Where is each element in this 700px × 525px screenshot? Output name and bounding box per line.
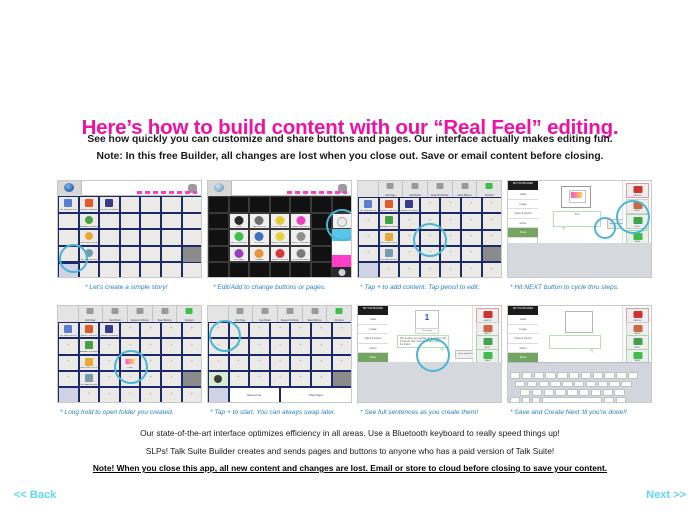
plus-icon: + — [429, 267, 432, 272]
grid-cell-empty[interactable]: + — [420, 262, 441, 278]
editor-sidebar-item-image[interactable]: Image — [508, 200, 538, 210]
plus-icon: + — [149, 360, 152, 365]
highlight-circle — [616, 200, 650, 234]
toolbar-button-new-button[interactable]: New Button — [403, 181, 428, 197]
keyboard-key[interactable] — [544, 389, 554, 396]
keyboard-key[interactable] — [598, 381, 608, 388]
home-cell[interactable] — [208, 181, 232, 196]
plus-icon: + — [190, 360, 193, 365]
grid-cell-empty[interactable]: + — [58, 371, 79, 387]
side-button-home[interactable] — [332, 267, 352, 278]
highlight-circle — [59, 244, 88, 273]
grid-cell-with-icon[interactable]: MY FAVORITES — [358, 197, 379, 213]
keyboard-key[interactable] — [579, 389, 589, 396]
grid-cell-empty[interactable]: + — [311, 338, 332, 354]
sentence-strip — [137, 191, 197, 194]
plus-icon: + — [258, 343, 261, 348]
screenshot-step-3[interactable]: Edit PageNew ButtonDelete/Cut ButtonSwap… — [357, 180, 502, 278]
highlight-circle — [209, 320, 241, 352]
grid-cell-empty[interactable]: + — [140, 387, 161, 403]
colored-button[interactable]: SILLY SOUNDS — [229, 229, 250, 246]
tool-icon — [87, 308, 94, 314]
keyboard-key[interactable] — [557, 372, 567, 379]
plus-icon: + — [367, 235, 370, 240]
footer-line-2: SLPs! Talk Suite Builder creates and sen… — [0, 446, 700, 456]
grid-cell-empty[interactable]: + — [482, 197, 502, 213]
plus-icon: + — [67, 360, 70, 365]
grid-cell-empty[interactable]: + — [140, 322, 161, 338]
next-link[interactable]: Next >> — [646, 489, 686, 501]
x-glyph — [633, 186, 642, 193]
grid-cell-empty[interactable]: + — [379, 262, 400, 278]
keyboard-key[interactable] — [522, 397, 530, 403]
plus-icon: + — [149, 376, 152, 381]
highlight-circle — [326, 209, 352, 241]
plus-icon: + — [320, 343, 323, 348]
plus-icon: + — [170, 360, 173, 365]
grid-cell-empty[interactable]: + — [290, 338, 311, 354]
plus-icon: + — [490, 267, 493, 272]
grid-cell-gray[interactable] — [182, 246, 202, 263]
grid-cell[interactable] — [120, 262, 141, 278]
grid-cell[interactable] — [99, 229, 120, 246]
grid-cell[interactable] — [161, 196, 182, 213]
grid-cell[interactable] — [290, 262, 311, 278]
grid-cell-gray[interactable] — [332, 371, 352, 387]
avatar-button[interactable] — [208, 371, 229, 387]
colored-button[interactable]: CHIMES — [249, 246, 270, 263]
plus-icon: + — [217, 360, 220, 365]
grid-cell[interactable] — [182, 213, 202, 230]
grid-cell-empty[interactable]: + — [99, 338, 120, 354]
plus-icon: + — [190, 327, 193, 332]
grid-cell[interactable] — [208, 262, 229, 278]
grid-cell-empty[interactable]: + — [290, 322, 311, 338]
plus-icon: + — [449, 218, 452, 223]
tool-icon — [286, 308, 293, 314]
plus-icon: + — [108, 360, 111, 365]
screenshot-step-4[interactable]: BUTTON BUILDER LabelImageVoice & SoundAc… — [507, 180, 652, 278]
grid-cell-empty[interactable]: + — [420, 197, 441, 213]
grid-cell-empty[interactable]: + — [461, 213, 482, 229]
keyboard-key[interactable] — [586, 381, 596, 388]
screenshot-step-7[interactable]: BUTTON BUILDER LabelImageVoice & SoundAc… — [357, 305, 502, 403]
grid-cell[interactable] — [290, 196, 311, 213]
keyboard-key[interactable] — [567, 389, 577, 396]
colored-button[interactable]: BIG/UP SOUNDS — [270, 229, 291, 246]
grid-cell[interactable] — [140, 262, 161, 278]
plus-icon: + — [299, 343, 302, 348]
editor-sidebar-item-done[interactable]: Done — [508, 228, 538, 238]
on-screen-keyboard[interactable] — [508, 362, 651, 402]
grid-cell-with-icon[interactable]: MY FAVORITES — [58, 196, 79, 213]
grid-cell-with-icon[interactable]: RECORD CLIPS — [79, 229, 100, 246]
plus-icon: + — [320, 327, 323, 332]
grid-cell[interactable] — [58, 213, 79, 230]
toolbar-button-delete-cut-button[interactable]: Delete/Cut Button — [428, 181, 453, 197]
editor-sidebar-title: BUTTON BUILDER — [508, 308, 538, 310]
grid-cell-empty[interactable]: + — [249, 322, 270, 338]
grid-cell-empty[interactable]: + — [461, 262, 482, 278]
plus-icon: + — [449, 235, 452, 240]
grid-cell[interactable] — [120, 196, 141, 213]
grid-cell[interactable] — [208, 213, 229, 230]
toolbar-button-swap-buttons[interactable]: Swap Buttons — [153, 306, 178, 322]
keyboard-key[interactable] — [593, 372, 603, 379]
grid-cell[interactable] — [140, 229, 161, 246]
x-glyph — [483, 311, 492, 318]
grid-cell[interactable] — [161, 229, 182, 246]
grid-cell-empty[interactable]: + — [482, 262, 502, 278]
grid-cell-with-icon[interactable]: MUSIC SOUNDS — [99, 322, 120, 338]
toolbar-button-edit-page[interactable]: Edit Page — [79, 306, 104, 322]
tool-icon — [311, 308, 318, 314]
grid-cell-empty[interactable]: + — [482, 213, 502, 229]
editor-sidebar-title: BUTTON BUILDER — [508, 183, 538, 185]
caption-step-7: * See full sentences as you create them! — [360, 409, 510, 416]
grid-cell-empty[interactable]: + — [270, 338, 291, 354]
screenshot-step-5[interactable]: Edit PageNew ButtonDelete/Cut ButtonSwap… — [57, 305, 202, 403]
colored-button[interactable]: SOUND BOARD — [290, 246, 311, 263]
grid-cell-empty[interactable]: + — [358, 230, 379, 246]
keyboard-key[interactable] — [616, 372, 626, 379]
plus-icon: + — [470, 202, 473, 207]
colored-button[interactable]: HOW IT SOUNDS — [290, 229, 311, 246]
grid-cell-with-icon[interactable]: MUSIC CHOICE — [79, 322, 100, 338]
screenshot-step-8[interactable]: BUTTON BUILDER LabelImageVoice & SoundAc… — [507, 305, 652, 403]
grid-cell-empty[interactable]: + — [120, 387, 141, 403]
toolbar-button-new-button[interactable]: New Button — [103, 306, 128, 322]
plus-icon: + — [490, 235, 493, 240]
grid-cell[interactable] — [208, 229, 229, 246]
grid-cell-empty[interactable]: + — [58, 338, 79, 354]
toolbar-button-edit-page[interactable]: Edit Page — [379, 181, 404, 197]
plus-icon: + — [149, 327, 152, 332]
caption-step-3: * Tap + to add content. Tap pencil to ed… — [360, 284, 510, 291]
toolbar-button-swap-buttons[interactable]: Swap Buttons — [453, 181, 478, 197]
page-caption[interactable]: It's a Dog — [415, 328, 439, 334]
grid-cell[interactable] — [99, 246, 120, 263]
colored-button[interactable]: MY CARS — [229, 246, 250, 263]
grid-cell-empty[interactable]: + — [358, 246, 379, 262]
grid-cell-empty[interactable]: + — [161, 387, 182, 403]
grid-cell[interactable] — [311, 246, 332, 263]
keyboard-key[interactable] — [542, 397, 602, 403]
grid-cell-empty[interactable]: + — [229, 355, 250, 371]
grid-cell-empty[interactable]: + — [311, 371, 332, 387]
grid-cell[interactable] — [270, 262, 291, 278]
keyboard-key[interactable] — [539, 381, 549, 388]
grid-cell[interactable] — [208, 196, 229, 213]
toolbar-button-finished[interactable]: Finished — [327, 306, 352, 322]
plus-icon: + — [299, 360, 302, 365]
grid-cell-empty[interactable]: + — [249, 355, 270, 371]
grid-cell-empty[interactable]: + — [182, 387, 202, 403]
grid-cell-empty[interactable]: + — [161, 322, 182, 338]
grid-cell-folder[interactable] — [58, 387, 79, 403]
toolbar-button-new-button[interactable]: New Button — [253, 306, 278, 322]
keyboard-key[interactable] — [603, 389, 613, 396]
grid-cell[interactable] — [182, 196, 202, 213]
grid-cell-with-icon[interactable]: MUSIC CHOICE — [379, 197, 400, 213]
grid-cell[interactable] — [140, 213, 161, 230]
grid-cell-empty[interactable]: + — [249, 371, 270, 387]
plus-icon: + — [408, 251, 411, 256]
editor-sidebar-item-action[interactable]: Action — [508, 344, 538, 354]
grid-cell[interactable] — [140, 196, 161, 213]
keyboard-key[interactable] — [532, 397, 540, 403]
grid-cell[interactable] — [270, 196, 291, 213]
home-icon — [214, 183, 224, 192]
nav-repeat-last[interactable]: Repeat Last — [229, 387, 281, 403]
keyboard-key[interactable] — [555, 389, 565, 396]
keyboard-key[interactable] — [522, 372, 532, 379]
grid-cell-empty[interactable]: + — [311, 355, 332, 371]
keyboard-key[interactable] — [534, 372, 544, 379]
colored-button[interactable]: SMALL/BOUNCE — [290, 213, 311, 230]
grid-cell[interactable] — [311, 196, 332, 213]
tool-icon — [412, 183, 419, 189]
editor-sidebar-item-image[interactable]: Image — [508, 325, 538, 335]
keyboard-key[interactable] — [628, 372, 638, 379]
grid-cell-empty[interactable]: + — [461, 230, 482, 246]
grid-cell-empty[interactable]: + — [161, 338, 182, 354]
plus-icon: + — [87, 392, 90, 397]
plus-icon: + — [258, 327, 261, 332]
grid-cell-empty[interactable]: + — [440, 197, 461, 213]
keyboard-key[interactable] — [510, 372, 520, 379]
keyboard-key[interactable] — [614, 389, 624, 396]
plus-icon: + — [299, 376, 302, 381]
editor-sidebar-item-voice-sound[interactable]: Voice & Sound — [508, 209, 538, 219]
caption-step-4: * Hit NEXT button to cycle thru steps. — [510, 284, 660, 291]
editor-sidebar-item-image[interactable]: Image — [358, 325, 388, 335]
back-glyph — [633, 325, 642, 332]
grid-cell[interactable] — [99, 213, 120, 230]
editor-sidebar-item-label[interactable]: Label — [358, 315, 388, 325]
plus-icon: + — [237, 360, 240, 365]
caption-step-2: * Edit/Add to change buttons or pages. — [213, 284, 363, 291]
keyboard-key[interactable] — [527, 381, 537, 388]
grid-cell-empty[interactable]: + — [249, 338, 270, 354]
editor-sidebar-item-action[interactable]: Action — [508, 219, 538, 229]
toolbar-button-delete-cut-button[interactable]: Delete/Cut Button — [278, 306, 303, 322]
grid-cell-gray[interactable] — [482, 246, 502, 262]
plus-icon: + — [67, 343, 70, 348]
folder-preview-icon — [561, 186, 591, 208]
keyboard-key[interactable] — [550, 381, 560, 388]
grid-cell-empty[interactable]: + — [161, 371, 182, 387]
side-button-settings[interactable] — [332, 241, 352, 255]
toolbar-button-finished[interactable]: Finished — [177, 306, 202, 322]
keyboard-key[interactable] — [581, 372, 591, 379]
keyboard-key[interactable] — [621, 381, 631, 388]
keyboard-key[interactable] — [569, 372, 579, 379]
keyboard-key[interactable] — [574, 381, 584, 388]
keyboard-key[interactable] — [520, 389, 530, 396]
home-cell[interactable] — [58, 181, 82, 196]
grid-cell[interactable] — [182, 262, 202, 278]
grid-cell-empty[interactable]: + — [399, 262, 420, 278]
grid-cell-with-icon[interactable]: MUSIC SOUNDS — [399, 197, 420, 213]
grid-cell-empty[interactable]: + — [358, 213, 379, 229]
grid-cell-empty[interactable]: + — [120, 322, 141, 338]
grid-cell-with-icon[interactable]: RECORD CLIPS — [379, 230, 400, 246]
colored-button[interactable]: STOP/GO — [249, 229, 270, 246]
grid-cell-empty[interactable]: + — [332, 355, 352, 371]
grid-cell-with-icon[interactable]: MUSIC CHOICE — [79, 196, 100, 213]
grid-cell-empty[interactable]: + — [270, 371, 291, 387]
grid-cell-empty[interactable]: + — [208, 355, 229, 371]
nav-main-pages[interactable]: Main Pages — [280, 387, 352, 403]
grid-cell-empty[interactable]: + — [229, 371, 250, 387]
plus-icon: + — [340, 343, 343, 348]
toolbar-button-swap-buttons[interactable]: Swap Buttons — [303, 306, 328, 322]
grid-cell[interactable] — [208, 246, 229, 263]
keyboard-key[interactable] — [532, 389, 542, 396]
grid-cell-with-icon[interactable]: ANIMAL SOUNDS — [79, 338, 100, 354]
keyboard-key[interactable] — [609, 381, 619, 388]
keyboard-key[interactable] — [616, 397, 626, 403]
grid-cell-empty[interactable]: + — [270, 322, 291, 338]
sentence-strip — [287, 191, 347, 194]
grid-cell-with-icon[interactable]: MY FAVORITES — [379, 246, 400, 262]
grid-cell-empty[interactable]: + — [461, 246, 482, 262]
plus-icon: + — [367, 251, 370, 256]
keyboard-key[interactable] — [604, 372, 614, 379]
grid-cell[interactable] — [99, 262, 120, 278]
side-button-stories[interactable] — [332, 255, 352, 267]
editor-sidebar-item-voice-sound[interactable]: Voice & Sound — [508, 334, 538, 344]
grid-cell[interactable] — [140, 246, 161, 263]
page-number: 1 — [416, 313, 438, 322]
plus-icon: + — [170, 343, 173, 348]
grid-cell-empty[interactable]: + — [399, 213, 420, 229]
grid-cell-empty[interactable]: + — [332, 322, 352, 338]
grid-cell-gray[interactable] — [182, 371, 202, 387]
tool-icon — [161, 308, 168, 314]
colored-button[interactable]: CLICK SOUND — [270, 213, 291, 230]
grid-cell[interactable] — [311, 262, 332, 278]
editor-sidebar: BUTTON BUILDER LabelImageVoice & SoundAc… — [508, 306, 538, 362]
grid-cell[interactable] — [161, 246, 182, 263]
screenshot-step-6[interactable]: Edit PageNew ButtonDelete/Cut ButtonSwap… — [207, 305, 352, 403]
editor-sidebar-item-voice-sound[interactable]: Voice & Sound — [358, 334, 388, 344]
x-glyph — [633, 311, 642, 318]
plus-icon: + — [490, 218, 493, 223]
grid-cell-folder[interactable] — [208, 387, 229, 403]
grid-cell-with-icon[interactable]: ANIMAL SOUNDS — [79, 213, 100, 230]
grid-cell[interactable] — [120, 213, 141, 230]
keyboard-key[interactable] — [515, 381, 525, 388]
grid-cell-empty[interactable]: + — [270, 355, 291, 371]
keyboard-key[interactable] — [510, 397, 520, 403]
grid-cell-empty[interactable]: + — [332, 338, 352, 354]
colored-button[interactable]: MUSIC CHOICE — [270, 246, 291, 263]
grid-cell[interactable] — [229, 262, 250, 278]
grid-cell-folder[interactable] — [358, 262, 379, 278]
editor-sidebar-item-action[interactable]: Action — [358, 344, 388, 354]
footer-note: Note! When you close this app, all new c… — [0, 463, 700, 473]
colored-button[interactable]: LOUD — [229, 213, 250, 230]
grid-cell-empty[interactable]: + — [182, 355, 202, 371]
grid-cell-empty[interactable]: + — [140, 338, 161, 354]
grid-cell-with-icon[interactable]: MY FAVORITES — [79, 371, 100, 387]
plus-icon: + — [470, 251, 473, 256]
keyboard-key[interactable] — [591, 389, 601, 396]
grid-cell-empty[interactable]: + — [161, 355, 182, 371]
grid-cell-empty[interactable]: + — [182, 338, 202, 354]
editor-button-cancel[interactable]: CANCEL — [626, 183, 649, 198]
colored-button[interactable]: FAST/SLOW — [249, 213, 270, 230]
grid-cell[interactable] — [229, 196, 250, 213]
grid-cell[interactable] — [161, 262, 182, 278]
check-icon — [486, 183, 493, 189]
highlight-circle — [114, 350, 148, 384]
plus-icon: + — [449, 251, 452, 256]
back-link[interactable]: << Back — [14, 489, 56, 501]
grid-cell[interactable] — [120, 229, 141, 246]
plus-icon: + — [108, 343, 111, 348]
keyboard-key[interactable] — [562, 381, 572, 388]
grid-cell-empty[interactable]: + — [99, 387, 120, 403]
grid-cell-empty[interactable]: + — [182, 322, 202, 338]
grid-cell[interactable] — [182, 229, 202, 246]
toolbar-button-finished[interactable]: Finished — [477, 181, 502, 197]
editor-button-label: CANCEL — [627, 195, 648, 197]
grid-cell-empty[interactable]: + — [290, 355, 311, 371]
grid-cell[interactable] — [161, 213, 182, 230]
editor-sidebar-item-label[interactable]: Label — [508, 190, 538, 200]
edit-toolbar: Edit PageNew ButtonDelete/Cut ButtonSwap… — [208, 306, 351, 322]
editor-sidebar-item-label[interactable]: Label — [508, 315, 538, 325]
grid-cell-with-icon[interactable]: RECORD CLIPS — [79, 355, 100, 371]
grid-cell-empty[interactable]: + — [290, 371, 311, 387]
screenshot-step-1[interactable]: MY FAVORITESMUSIC CHOICEMUSIC SOUNDSANIM… — [57, 180, 202, 278]
tool-icon — [112, 308, 119, 314]
grid-cell-empty[interactable]: + — [58, 355, 79, 371]
text-bubble[interactable] — [549, 335, 601, 349]
keyboard-key[interactable] — [604, 397, 614, 403]
grid-cell-with-icon[interactable]: MY FAVORITES — [58, 322, 79, 338]
plus-icon: + — [108, 376, 111, 381]
grid-cell-with-icon[interactable]: MUSIC SOUNDS — [99, 196, 120, 213]
plus-icon: + — [149, 392, 152, 397]
grid-cell[interactable] — [120, 246, 141, 263]
plus-icon: + — [190, 343, 193, 348]
plus-icon: + — [299, 327, 302, 332]
toolbar-button-edit-page[interactable]: Edit Page — [229, 306, 254, 322]
plus-icon: + — [170, 392, 173, 397]
subtitle-line-2: Note: In this free Builder, all changes … — [0, 151, 700, 162]
grid-cell[interactable] — [249, 262, 270, 278]
image-placeholder[interactable] — [565, 311, 593, 333]
grid-cell-empty[interactable]: + — [440, 213, 461, 229]
plus-icon: + — [449, 267, 452, 272]
grid-cell-empty[interactable]: + — [311, 322, 332, 338]
toolbar-button-delete-cut-button[interactable]: Delete/Cut Button — [128, 306, 153, 322]
check-icon — [186, 308, 193, 314]
grid-cell-empty[interactable]: + — [440, 262, 461, 278]
keyboard-key[interactable] — [545, 372, 555, 379]
screenshot-step-2[interactable]: LOUDFAST/SLOWCLICK SOUNDSMALL/BOUNCESILL… — [207, 180, 352, 278]
grid-cell-with-icon[interactable]: ANIMAL SOUNDS — [379, 213, 400, 229]
grid-cell-empty[interactable]: + — [461, 197, 482, 213]
grid-cell-empty[interactable]: + — [79, 387, 100, 403]
grid-cell-empty[interactable]: + — [482, 230, 502, 246]
grid-cell[interactable] — [249, 196, 270, 213]
tool-icon — [237, 308, 244, 314]
